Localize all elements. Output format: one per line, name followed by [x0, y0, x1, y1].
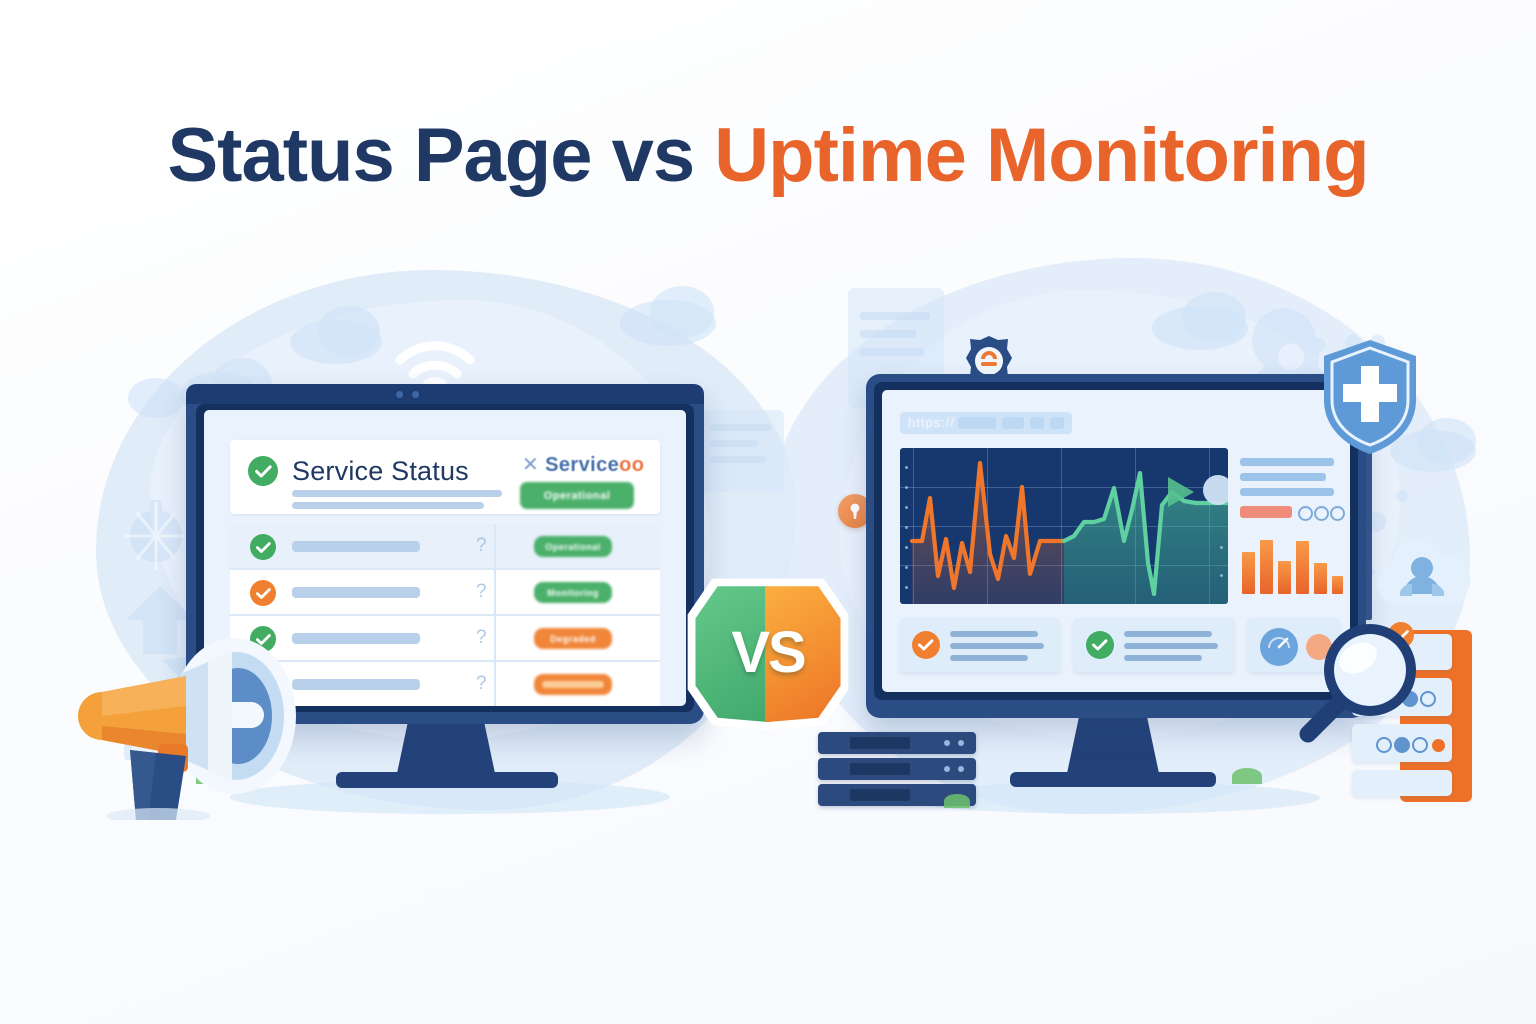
background-line — [860, 348, 924, 356]
server-led — [944, 740, 950, 746]
server-led — [958, 740, 964, 746]
stat-card-line — [950, 643, 1044, 649]
stat-card-check-icon — [1086, 631, 1114, 659]
sidebar-alert-bar — [1240, 506, 1292, 518]
row-status-check-icon — [250, 580, 276, 606]
row-divider — [494, 570, 496, 614]
axis-tick — [905, 586, 908, 589]
background-line — [710, 440, 758, 447]
monitor-neck — [1066, 716, 1160, 778]
cloud-user-icon — [1372, 534, 1472, 618]
background-line — [710, 424, 772, 431]
magnifier-icon[interactable] — [1296, 614, 1428, 746]
row-divider — [494, 616, 496, 660]
sidebar-text-line — [1240, 458, 1334, 466]
row-marker: ? — [476, 627, 487, 649]
stat-card-line — [1124, 643, 1218, 649]
url-placeholder-blocks — [1002, 417, 1024, 429]
row-divider — [494, 524, 496, 568]
row-status-pill[interactable]: Monitoring — [534, 582, 612, 603]
server-slot — [850, 789, 910, 801]
grass-decoration — [1232, 768, 1262, 784]
url-placeholder-blocks — [1050, 417, 1064, 429]
axis-tick — [905, 506, 908, 509]
server-unit — [818, 732, 976, 754]
response-time-chart — [900, 448, 1228, 604]
stat-card-check-icon — [912, 631, 940, 659]
header-status-pill[interactable]: Operational — [520, 482, 634, 509]
sidebar-ring-icon — [1298, 506, 1313, 521]
sidebar-bar — [1242, 552, 1255, 594]
logo-x-icon: ✕ — [522, 454, 539, 476]
axis-tick — [905, 486, 908, 489]
shield-plus-icon — [1320, 338, 1420, 456]
uptime-dashboard-screen: https:// — [882, 390, 1350, 692]
sidebar-bar — [1314, 563, 1327, 594]
row-divider — [494, 662, 496, 706]
url-placeholder-blocks — [1030, 417, 1044, 429]
camera-dot — [412, 391, 419, 398]
sidebar-ring-icon — [1330, 506, 1345, 521]
axis-tick — [905, 466, 908, 469]
browser-url-text: https:// — [908, 415, 955, 430]
row-marker: ? — [476, 673, 487, 695]
sidebar-bar — [1278, 561, 1291, 594]
background-line — [860, 330, 916, 338]
stat-card-line — [950, 655, 1028, 661]
axis-tick — [905, 566, 908, 569]
cloud-shape — [128, 378, 184, 418]
row-marker: ? — [476, 581, 487, 603]
page-title: Status Page vs Uptime Monitoring — [0, 118, 1536, 194]
header-placeholder-line — [292, 502, 484, 509]
rack-indicator-active — [1432, 739, 1445, 752]
url-placeholder-blocks — [958, 417, 996, 429]
row-status-pill-fill — [542, 681, 604, 688]
axis-tick — [905, 526, 908, 529]
header-status-check-icon — [248, 456, 278, 486]
title-part-navy: Status Page vs — [167, 113, 714, 198]
axis-tick — [905, 546, 908, 549]
stat-card-line — [1124, 655, 1202, 661]
server-slot — [850, 763, 910, 775]
play-triangle-icon[interactable] — [1168, 477, 1194, 507]
header-placeholder-line — [292, 490, 502, 497]
vs-badge: VS — [686, 574, 850, 730]
row-status-check-icon — [250, 534, 276, 560]
service-brand-logo: ✕ Serviceoo — [522, 452, 644, 477]
row-placeholder-line — [292, 587, 420, 598]
sidebar-ring-icon — [1314, 506, 1329, 521]
background-panel — [700, 410, 784, 492]
server-led — [958, 766, 964, 772]
dashboard-sidebar — [1240, 448, 1340, 604]
megaphone-icon — [62, 630, 332, 820]
axis-tick — [1220, 574, 1223, 577]
monitor-top-bar — [186, 384, 704, 404]
cloud-shape — [318, 306, 380, 356]
row-status-pill[interactable]: Operational — [534, 536, 612, 557]
logo-text: Service — [545, 454, 619, 476]
illustration-canvas: Status Page vs Uptime Monitoring — [0, 0, 1536, 1024]
row-status-pill[interactable] — [534, 674, 612, 695]
service-status-title: Service Status — [292, 456, 469, 487]
background-line — [860, 312, 930, 320]
server-led — [944, 766, 950, 772]
sidebar-bar — [1332, 576, 1343, 594]
background-line — [710, 456, 766, 463]
cloud-shape — [650, 286, 714, 338]
server-slot — [850, 737, 910, 749]
chart-marker-dot — [1203, 475, 1228, 505]
camera-dot — [396, 391, 403, 398]
row-marker: ? — [476, 535, 487, 557]
grass-decoration — [944, 794, 970, 808]
logo-dots: oo — [619, 454, 644, 476]
rack-card — [1352, 770, 1452, 796]
row-placeholder-line — [292, 541, 420, 552]
stat-card-line — [1124, 631, 1212, 637]
axis-tick — [1220, 546, 1223, 549]
speed-gauge-icon — [1260, 628, 1298, 666]
title-part-orange: Uptime Monitoring — [714, 113, 1368, 198]
shield-pole — [1358, 440, 1372, 620]
stat-card-line — [950, 631, 1038, 637]
sidebar-text-line — [1240, 473, 1326, 481]
sidebar-text-line — [1240, 488, 1334, 496]
server-unit — [818, 758, 976, 780]
chart-series — [900, 448, 1228, 604]
sidebar-bar — [1296, 541, 1309, 594]
row-status-pill[interactable]: Degraded — [534, 628, 612, 649]
vs-badge-label: VS — [686, 574, 850, 730]
sidebar-bar — [1260, 540, 1273, 594]
